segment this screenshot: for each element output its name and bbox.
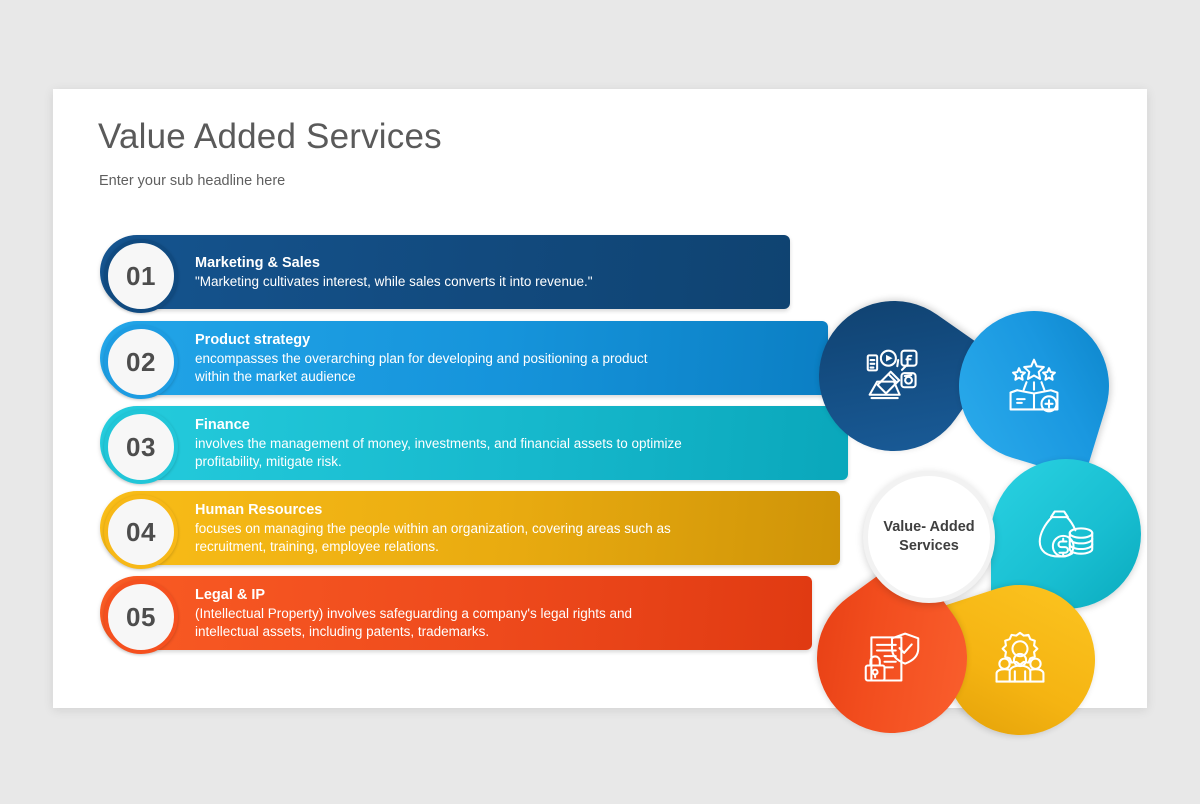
row-number-badge: 02 (104, 325, 178, 399)
row-number-badge: 05 (104, 580, 178, 654)
hub-label: Value- Added Services (883, 518, 974, 556)
list-item[interactable]: 02 Product strategy encompasses the over… (100, 321, 828, 395)
row-number: 04 (126, 517, 156, 548)
document-lock-shield-icon (817, 583, 967, 733)
hub-circle: Value- Added Services (863, 471, 995, 603)
marketing-megaphone-icon (819, 301, 969, 451)
row-bar (100, 321, 828, 395)
row-bar (100, 576, 812, 650)
row-number: 03 (126, 432, 156, 463)
row-number: 05 (126, 602, 156, 633)
list-item[interactable]: 01 Marketing & Sales "Marketing cultivat… (100, 235, 790, 309)
slide-card: Value Added Services Enter your sub head… (53, 89, 1147, 708)
petal-diagram: Value- Added Services (763, 207, 1123, 669)
petal-product-strategy[interactable] (940, 292, 1127, 479)
list-item[interactable]: 05 Legal & IP (Intellectual Property) in… (100, 576, 812, 650)
row-number: 01 (126, 261, 156, 292)
row-number-badge: 03 (104, 410, 178, 484)
row-number-badge: 04 (104, 495, 178, 569)
row-bar (100, 491, 840, 565)
row-number: 02 (126, 347, 156, 378)
list-item[interactable]: 03 Finance involves the management of mo… (100, 406, 848, 480)
product-box-stars-icon (959, 311, 1109, 461)
list-item[interactable]: 04 Human Resources focuses on managing t… (100, 491, 840, 565)
people-gear-icon (945, 585, 1095, 735)
row-number-badge: 01 (104, 239, 178, 313)
row-bar (100, 235, 790, 309)
row-bar (100, 406, 848, 480)
